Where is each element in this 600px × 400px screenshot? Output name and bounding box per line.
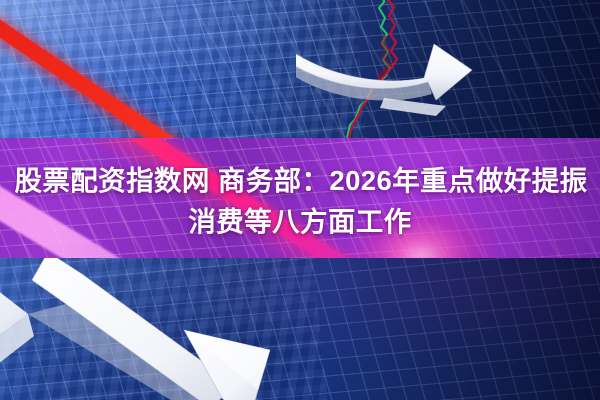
headline-line-1: 股票配资指数网 商务部：2026年重点做好提振 xyxy=(0,160,600,201)
white-arrow-down-right xyxy=(0,258,300,400)
white-curved-arrow-right xyxy=(296,26,508,116)
top-blue-grid-section xyxy=(0,0,600,140)
headline-line-2: 消费等八方面工作 xyxy=(0,201,600,242)
bottom-blue-grid-section xyxy=(0,258,600,400)
banner-image: 股票配资指数网 商务部：2026年重点做好提振 消费等八方面工作 xyxy=(0,0,600,400)
headline-text: 股票配资指数网 商务部：2026年重点做好提振 消费等八方面工作 xyxy=(0,160,600,242)
